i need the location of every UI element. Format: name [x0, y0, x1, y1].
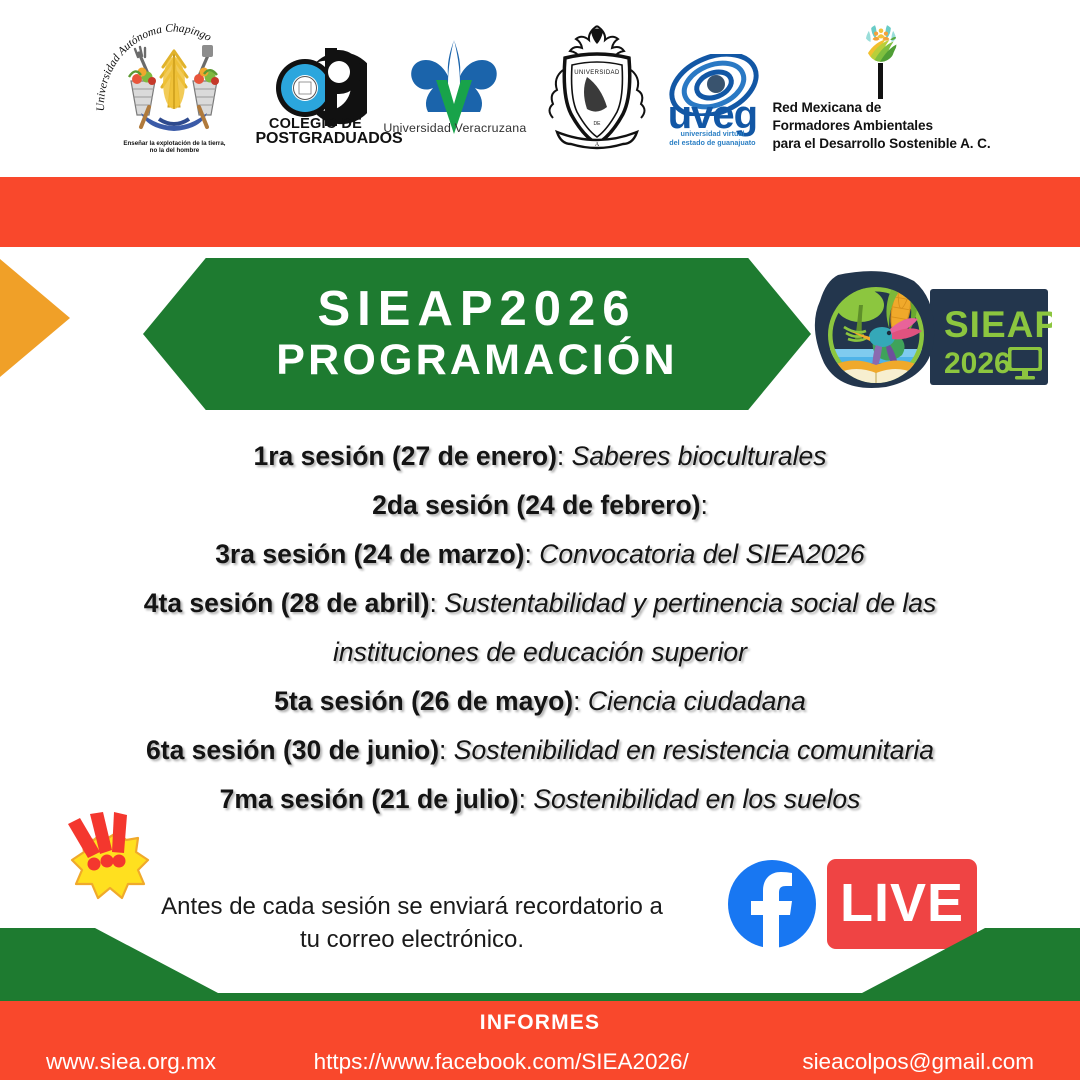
session-label: 3ra sesión (24 de marzo)	[215, 539, 524, 569]
sponsor-logo-bar: Universidad Autónoma Chapingo	[0, 0, 1080, 176]
session-item: 2da sesión (24 de febrero):	[40, 481, 1040, 530]
banner-title: SIEAP2026	[317, 284, 636, 335]
facebook-live-badge[interactable]: LIVE	[727, 859, 977, 951]
session-item: 7ma sesión (21 de julio): Sostenibilidad…	[40, 775, 1040, 824]
session-label: 1ra sesión (27 de enero)	[254, 441, 557, 471]
redmex-emblem-icon	[831, 23, 931, 63]
banner-subtitle: PROGRAMACIÓN	[276, 337, 678, 384]
chapingo-tagline-line2: no la del hombre	[150, 147, 200, 154]
poster-root: Universidad Autónoma Chapingo	[0, 0, 1080, 1080]
uveg-wordmark: uveg	[652, 97, 772, 133]
svg-text:UNIVERSIDAD: UNIVERSIDAD	[575, 70, 621, 76]
session-label: 5ta sesión (26 de mayo)	[274, 686, 573, 716]
redmex-line1: Red Mexicana de	[772, 99, 990, 117]
session-separator: :	[429, 588, 444, 618]
chapingo-tagline-line1: Enseñar la explotación de la tierra,	[123, 140, 225, 147]
session-topic: Sostenibilidad en los suelos	[533, 784, 860, 814]
footer-links: www.siea.org.mx https://www.facebook.com…	[0, 1049, 1080, 1075]
chapingo-emblem-icon: Universidad Autónoma Chapingo	[89, 23, 259, 141]
session-topic: Sustentabilidad y pertinencia social de …	[444, 588, 936, 618]
session-topic-continued: instituciones de educación superior	[40, 628, 1040, 677]
title-banner: SIEAP2026 PROGRAMACIÓN	[143, 258, 811, 410]
footer-facebook-link[interactable]: https://www.facebook.com/SIEA2026/	[314, 1049, 689, 1075]
session-separator: :	[573, 686, 588, 716]
svg-text:2026: 2026	[944, 347, 1011, 380]
veracruzana-caption: Universidad Veracruzana	[367, 121, 542, 135]
logo-uveg: uveg universidad virtual del estado de g…	[652, 23, 772, 153]
live-label: LIVE	[840, 876, 964, 933]
sieap-2026-logo-icon: SIEAP 2026	[812, 263, 1052, 413]
svg-text:A: A	[595, 142, 600, 148]
reminder-note-line2: tu correo electrónico.	[110, 923, 714, 956]
session-separator: :	[557, 441, 572, 471]
colpos-wordmark: COLEGIO DE POSTGRADUADOS	[255, 117, 375, 148]
redmex-line3: para el Desarrollo Sostenible A. C.	[772, 135, 990, 153]
uaq-shield-icon: UNIVERSIDAD DE A	[543, 22, 651, 154]
logo-uaq: UNIVERSIDAD DE A	[542, 22, 652, 154]
session-label: 4ta sesión (28 de abril)	[144, 588, 430, 618]
footer-heading: INFORMES	[0, 1011, 1080, 1035]
session-item: 1ra sesión (27 de enero): Saberes biocul…	[40, 432, 1040, 481]
session-topic: Convocatoria del SIEA2026	[539, 539, 865, 569]
session-separator: :	[519, 784, 534, 814]
session-separator: :	[439, 735, 454, 765]
colpos-line2: POSTGRADUADOS	[255, 131, 375, 147]
amber-arrow-decoration	[0, 259, 70, 377]
session-topic: Saberes bioculturales	[572, 441, 827, 471]
session-topic: Sostenibilidad en resistencia comunitari…	[454, 735, 934, 765]
redmex-line2: Formadores Ambientales	[772, 117, 990, 135]
session-label: 2da sesión (24 de febrero)	[372, 490, 700, 520]
logo-colegio-postgraduados: COLEGIO DE POSTGRADUADOS	[259, 23, 367, 153]
session-separator: :	[524, 539, 539, 569]
footer-website-link[interactable]: www.siea.org.mx	[46, 1049, 216, 1075]
svg-text:SIEAP: SIEAP	[944, 304, 1052, 345]
session-separator: :	[701, 490, 708, 520]
chapingo-tagline: Enseñar la explotación de la tierra, no …	[89, 140, 259, 156]
uveg-sub-line2: del estado de guanajuato	[669, 138, 755, 147]
session-item: 6ta sesión (30 de junio): Sostenibilidad…	[40, 726, 1040, 775]
session-item: 5ta sesión (26 de mayo): Ciencia ciudada…	[40, 677, 1040, 726]
session-label: 6ta sesión (30 de junio)	[146, 735, 439, 765]
colpos-line1: COLEGIO DE	[255, 117, 375, 132]
top-orange-band	[0, 177, 1080, 247]
facebook-icon[interactable]	[727, 859, 817, 949]
live-label-box[interactable]: LIVE	[827, 859, 977, 949]
session-label: 7ma sesión (21 de julio)	[220, 784, 519, 814]
redmex-divider	[878, 63, 883, 100]
contact-footer: INFORMES www.siea.org.mx https://www.fac…	[0, 1001, 1080, 1080]
footer-email-link[interactable]: sieacolpos@gmail.com	[802, 1049, 1034, 1075]
session-item: 4ta sesión (28 de abril): Sustentabilida…	[40, 579, 1040, 677]
redmex-wordmark: Red Mexicana de Formadores Ambientales p…	[772, 99, 990, 153]
logo-universidad-veracruzana: Universidad Veracruzana	[367, 23, 542, 153]
svg-text:DE: DE	[594, 121, 602, 127]
uveg-subtitle: universidad virtual del estado de guanaj…	[652, 130, 772, 147]
session-topic: Ciencia ciudadana	[588, 686, 806, 716]
session-list: 1ra sesión (27 de enero): Saberes biocul…	[40, 432, 1040, 824]
reminder-note-line1: Antes de cada sesión se enviará recordat…	[110, 890, 714, 923]
logo-chapingo: Universidad Autónoma Chapingo	[89, 23, 259, 153]
session-item: 3ra sesión (24 de marzo): Convocatoria d…	[40, 530, 1040, 579]
reminder-note: Antes de cada sesión se enviará recordat…	[110, 890, 714, 956]
logo-red-mexicana: Red Mexicana de Formadores Ambientales p…	[772, 23, 990, 153]
